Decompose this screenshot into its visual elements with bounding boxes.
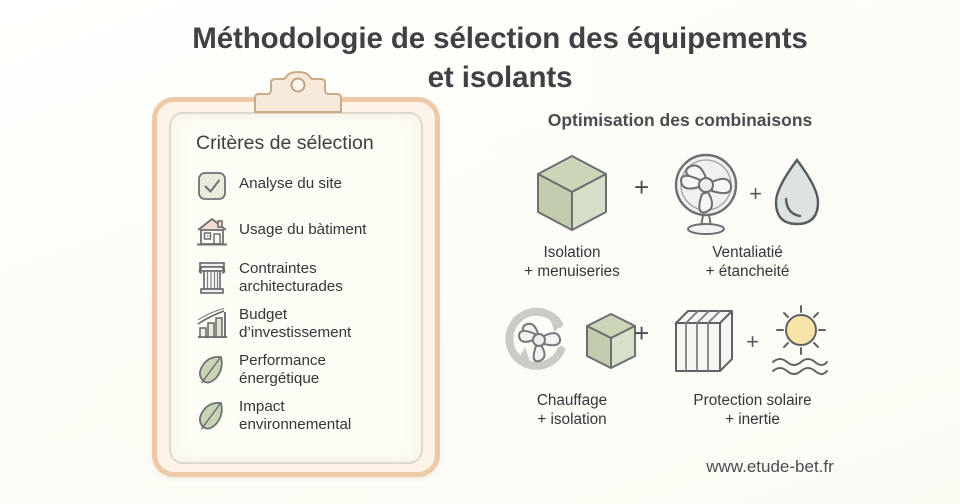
footer-url[interactable]: www.etude-bet.fr [660, 457, 880, 477]
combination-ventilation[interactable]: + Ventaliatié + étancheité [660, 148, 835, 281]
leaf-icon [193, 397, 231, 435]
checkbox-check-icon [193, 167, 231, 205]
combination-label: Ventaliatié + étancheité [706, 244, 790, 281]
house-icon [193, 213, 231, 251]
combination-protection-solaire[interactable]: + Protection sol [660, 296, 845, 429]
list-item[interactable]: Usage du bàtiment [193, 213, 413, 251]
recycle-fan-icon [501, 302, 579, 382]
plus-separator-2: + [634, 318, 649, 349]
combination-icons [526, 148, 618, 240]
column-icon [193, 259, 231, 297]
page-title-line-2: et isolants [120, 59, 880, 98]
list-item-label: Impact environnemental [239, 397, 351, 434]
insulation-panels-icon [666, 301, 742, 383]
combination-icons: + [666, 296, 839, 388]
list-item[interactable]: Performance énergétique [193, 351, 413, 389]
list-item-label: Performance énergétique [239, 351, 326, 388]
criteria-list: Analyse du site Usage du bàtiment [193, 167, 413, 443]
list-item[interactable]: Analyse du site [193, 167, 413, 205]
combination-chauffage[interactable]: Chauffage + isolation [497, 296, 647, 429]
combination-label: Protection solaire + inertie [693, 392, 811, 429]
combinations-heading: Optimisation des combinaisons [470, 110, 890, 131]
criteria-panel-title: Critères de sélection [196, 132, 374, 155]
combination-isolation[interactable]: Isolation + menuiseries [497, 148, 647, 281]
combination-label: Isolation + menuiseries [524, 244, 620, 281]
bar-chart-growth-icon [193, 305, 231, 343]
list-item-label: Analyse du site [239, 167, 342, 193]
leaf-icon [193, 351, 231, 389]
list-item[interactable]: Impact environnemental [193, 397, 413, 435]
list-item-label: Usage du bàtiment [239, 213, 367, 239]
page-title-line-1: Méthodologie de sélection des équipement… [192, 22, 808, 55]
combination-label: Chauffage + isolation [537, 392, 607, 429]
plus-separator-inner: + [749, 183, 762, 205]
list-item-label: Budget d’investissement [239, 305, 351, 342]
combination-icons: + [667, 148, 828, 240]
list-item-label: Contraintes architecturades [239, 259, 343, 296]
page-title: Méthodologie de sélection des équipement… [120, 20, 880, 98]
fan-icon [667, 151, 745, 237]
list-item[interactable]: Contraintes architecturades [193, 259, 413, 297]
list-item[interactable]: Budget d’investissement [193, 305, 413, 343]
cube-icon [526, 148, 618, 240]
clipboard-clip-icon [243, 70, 353, 114]
plus-separator-1: + [634, 172, 649, 203]
sun-heat-icon [763, 300, 839, 384]
plus-separator-inner: + [746, 331, 759, 353]
water-drop-icon [766, 154, 828, 234]
combination-icons [501, 296, 643, 388]
